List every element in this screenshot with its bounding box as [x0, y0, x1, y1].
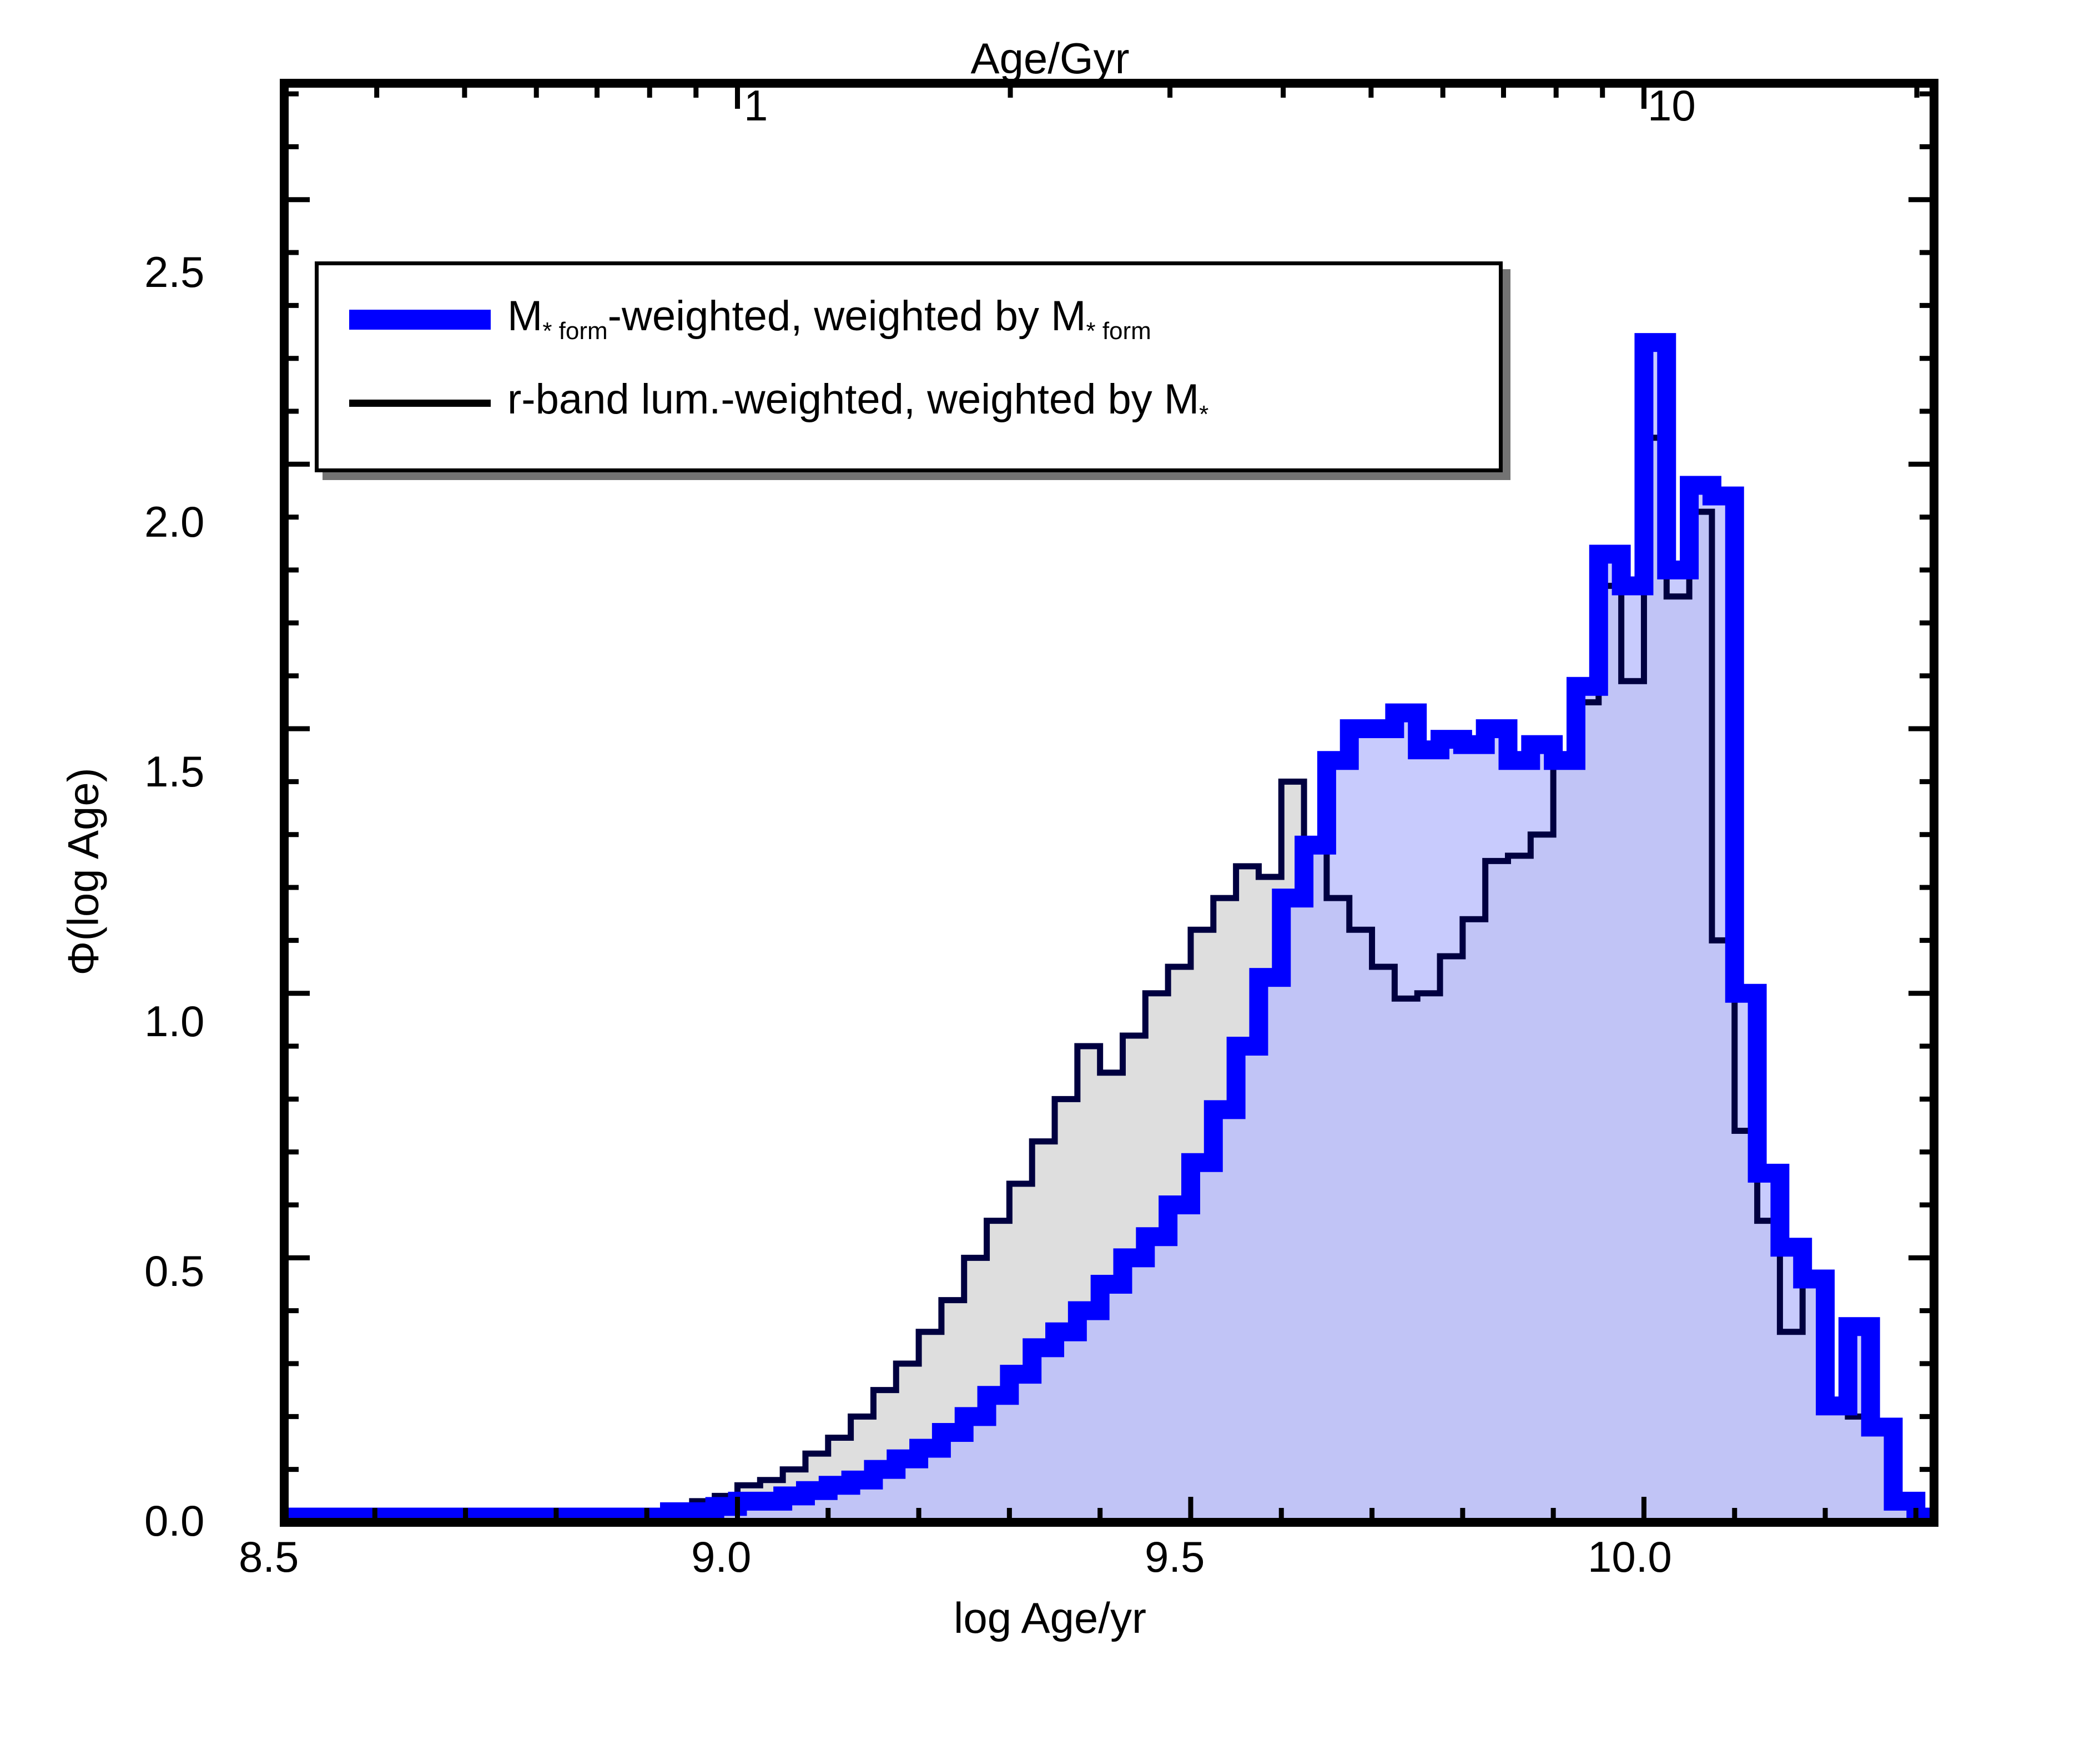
legend-item-0: M* form-weighted, weighted by M* form — [319, 282, 1499, 365]
legend-item-1: r-band lum.-weighted, weighted by M* — [319, 365, 1499, 448]
legend: M* form-weighted, weighted by M* form r-… — [315, 261, 1503, 472]
legend-swatch-black-line — [349, 400, 491, 407]
legend-label-1: r-band lum.-weighted, weighted by M* — [507, 375, 1208, 423]
series-layer — [284, 342, 1938, 1522]
series-clip-group — [284, 342, 1938, 1522]
figure-root: Age/Gyr log Age/yr Φ(log Age) 1 10 8.5 9… — [0, 0, 2100, 1756]
legend-swatch-blue-line — [349, 310, 491, 330]
legend-label-0: M* form-weighted, weighted by M* form — [507, 292, 1151, 340]
